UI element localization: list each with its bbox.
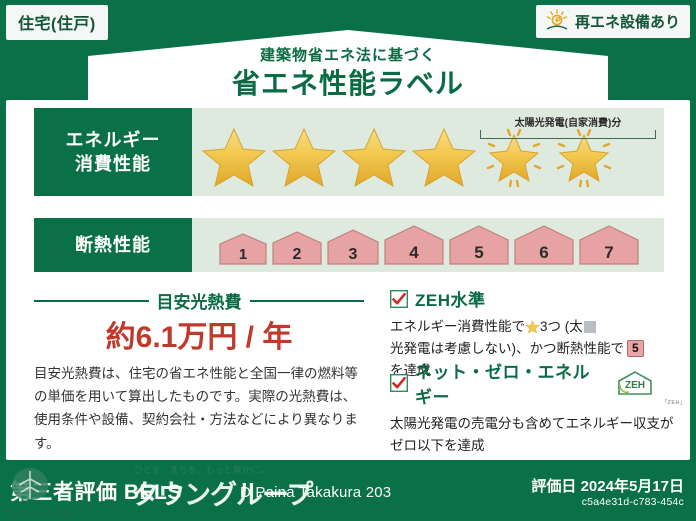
utility-cost-heading-label: 目安光熱費	[157, 288, 242, 313]
label-card: エネルギー 消費性能	[6, 100, 690, 460]
grade-house-number: 3	[349, 246, 358, 263]
property-name: D Paina Takakura 203	[240, 484, 391, 501]
heading-rule-left	[34, 300, 149, 302]
page-title: 省エネ性能ラベル	[0, 62, 696, 102]
energy-performance-label: エネルギー 消費性能	[34, 108, 192, 196]
grade-house-number: 1	[239, 246, 247, 263]
grade-house-number: 5	[474, 243, 483, 262]
utility-cost-value: 約6.1万円 / 年	[34, 312, 364, 356]
net-zero-title-row: ネット・ゼロ・エネルギー ZEH 「ZEH」	[390, 358, 686, 408]
check-icon	[390, 374, 408, 392]
energy-performance-row: エネルギー 消費性能	[34, 108, 664, 196]
footer-bar: 第三者評価 BELS D Paina Takakura 203 評価日 2024…	[0, 460, 696, 521]
check-icon	[390, 290, 408, 308]
renewable-badge-label: 再エネ設備あり	[575, 11, 680, 32]
zeh-logo-subtext: 「ZEH」	[661, 398, 686, 406]
grade-house: 5	[448, 224, 510, 266]
star-icon	[270, 124, 338, 188]
energy-label-line2: 消費性能	[75, 152, 151, 176]
sun-icon	[544, 9, 570, 33]
zeh-standard-title: ZEH水準	[415, 286, 486, 311]
net-zero-title: ネット・ゼロ・エネルギー	[415, 358, 604, 408]
grade-house: 7	[578, 224, 640, 266]
grade-house-number: 4	[409, 243, 419, 262]
grade-house-number: 6	[539, 243, 548, 262]
net-zero-block: ネット・ゼロ・エネルギー ZEH 「ZEH」 太陽光発電の売電分も含めてエネルギ…	[390, 358, 686, 457]
evaluation-date: 評価日 2024年5月17日	[531, 475, 684, 496]
zeh-desc-part3: 光発電は考慮しない)、かつ断熱性能で	[390, 338, 624, 360]
bels-label: 第三者評価 BELS	[10, 476, 182, 506]
grade-house-number: 7	[604, 243, 613, 262]
utility-cost-heading: 目安光熱費	[34, 288, 364, 313]
insulation-grade-list: 1 2 3 4 5	[200, 224, 640, 266]
grade-house-number: 2	[293, 246, 302, 263]
insulation-performance-row: 断熱性能 1 2 3	[34, 218, 664, 272]
star-icon	[525, 319, 540, 334]
star-icon	[410, 124, 478, 188]
zeh-desc-part2: 3つ (太	[540, 316, 583, 338]
redacted-char	[584, 321, 596, 333]
insulation-performance-label: 断熱性能	[34, 218, 192, 272]
heading-rule-right	[250, 300, 365, 302]
energy-label-line1: エネルギー	[66, 128, 161, 152]
zeh-desc-part1: エネルギー消費性能で	[390, 316, 525, 338]
solar-bracket-line	[480, 130, 656, 139]
housing-type-tag: 住宅(住戸)	[6, 5, 108, 40]
utility-cost-note: 目安光熱費は、住宅の省エネ性能と全国一律の燃料等の単価を用いて算出したものです。…	[34, 362, 368, 455]
evaluation-id: c5a4e31d-c783-454c	[582, 496, 684, 508]
star-icon	[200, 124, 268, 188]
svg-text:ZEH: ZEH	[625, 380, 645, 391]
zeh-standard-title-row: ZEH水準	[390, 286, 686, 311]
insulation-grades-panel: 1 2 3 4 5	[192, 218, 664, 272]
energy-label-root: 住宅(住戸) 再エネ設備あり 建築物省エネ法に基づく 省エネ性能ラベル	[0, 0, 696, 521]
solar-annotation-label: 太陽光発電(自家消費)分	[480, 114, 656, 129]
zeh-logo-icon: ZEH	[613, 370, 653, 396]
zeh-grade-chip: 5	[627, 340, 644, 357]
grade-house: 4	[383, 224, 445, 266]
grade-house: 6	[513, 224, 575, 266]
net-zero-description: 太陽光発電の売電分も含めてエネルギー収支がゼロ以下を達成	[390, 413, 686, 457]
renewable-equipment-badge: 再エネ設備あり	[536, 5, 690, 38]
energy-stars-panel: 太陽光発電(自家消費)分	[192, 108, 664, 196]
solar-annotation: 太陽光発電(自家消費)分	[480, 114, 656, 139]
grade-house: 2	[271, 230, 323, 266]
grade-house: 3	[326, 228, 380, 266]
grade-house: 1	[218, 232, 268, 266]
star-icon	[340, 124, 408, 188]
